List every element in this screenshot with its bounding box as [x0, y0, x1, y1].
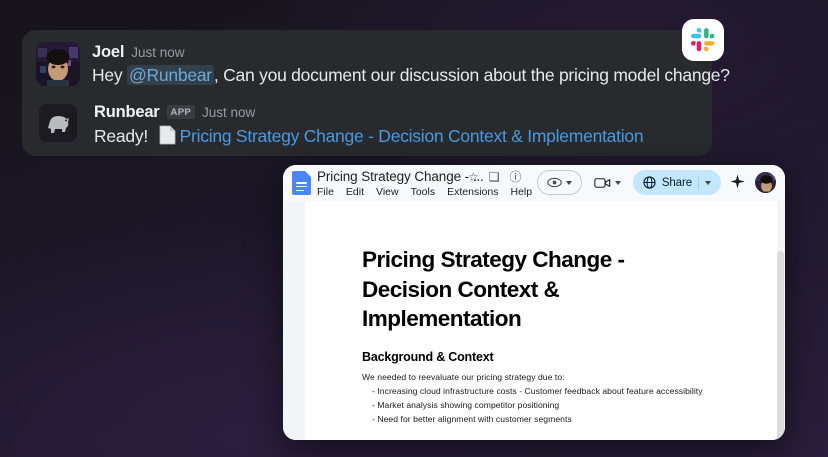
message-timestamp: Just now	[202, 105, 255, 120]
slack-message-runbear: Runbear APP Just now Ready! Pricing Stra…	[36, 102, 643, 150]
user-account-avatar-image	[755, 172, 777, 194]
chevron-down-icon	[566, 181, 572, 185]
joel-message-body: Joel Just now Hey @Runbear, Can you docu…	[92, 42, 730, 86]
message-text-before: Hey	[92, 65, 127, 85]
google-docs-icon-lines	[296, 182, 307, 193]
document-heading: Pricing Strategy Change - Decision Conte…	[362, 245, 712, 334]
document-bullet: - Increasing cloud infrastructure costs …	[362, 385, 747, 399]
menu-bar: File Edit View Tools Extensions Help	[317, 186, 532, 198]
mention-runbear[interactable]: @Runbear	[127, 65, 214, 85]
document-status-icon[interactable]: ⓘ	[510, 171, 522, 183]
user-account-avatar[interactable]	[754, 171, 777, 194]
joel-avatar-image	[36, 42, 80, 86]
toolbar-actions: Share	[537, 170, 777, 195]
app-badge: APP	[167, 105, 195, 119]
runbear-avatar-image	[39, 104, 77, 142]
google-docs-window: Pricing Strategy Change - ... ☆ ❑ ⓘ File…	[283, 165, 785, 440]
menu-item-file[interactable]: File	[317, 186, 334, 198]
menu-item-help[interactable]: Help	[510, 186, 532, 198]
slack-message-joel: Joel Just now Hey @Runbear, Can you docu…	[36, 42, 730, 86]
share-button-label: Share	[662, 177, 692, 189]
chevron-down-icon	[705, 181, 711, 185]
google-docs-toolbar: Pricing Strategy Change - ... ☆ ❑ ⓘ File…	[283, 165, 785, 201]
runbear-message-header: Runbear APP Just now	[94, 102, 643, 122]
document-page[interactable]: Pricing Strategy Change - Decision Conte…	[305, 201, 777, 440]
globe-icon	[643, 176, 656, 189]
menu-item-extensions[interactable]: Extensions	[447, 186, 498, 198]
document-file-icon	[159, 125, 176, 150]
gemini-sparkle-glyph	[730, 174, 745, 189]
eye-icon	[547, 177, 562, 188]
share-button[interactable]: Share	[633, 170, 721, 195]
menu-item-edit[interactable]: Edit	[346, 186, 364, 198]
document-link[interactable]: Pricing Strategy Change - Decision Conte…	[180, 126, 644, 146]
sparkle-icon[interactable]	[730, 174, 745, 191]
meet-button[interactable]	[591, 170, 624, 195]
message-text-after: , Can you document our discussion about …	[214, 65, 730, 85]
message-text-before: Ready!	[94, 126, 153, 146]
menu-item-tools[interactable]: Tools	[411, 186, 436, 198]
menu-item-view[interactable]: View	[376, 186, 399, 198]
runbear-avatar[interactable]	[39, 104, 77, 142]
slack-logo[interactable]	[682, 19, 724, 61]
move-to-folder-icon[interactable]: ❑	[489, 171, 500, 183]
message-author-name[interactable]: Runbear	[94, 103, 160, 122]
video-camera-icon	[594, 177, 611, 189]
document-bullet: - Need for better alignment with custome…	[362, 413, 747, 427]
message-timestamp: Just now	[131, 45, 184, 60]
chevron-down-icon	[615, 181, 621, 185]
document-section-heading-background: Background & Context	[362, 350, 747, 364]
share-divider	[698, 175, 699, 190]
screenshot-root: Joel Just now Hey @Runbear, Can you docu…	[0, 0, 828, 457]
document-intro-paragraph: We needed to reevaluate our pricing stra…	[362, 371, 747, 385]
title-action-icons: ☆ ❑ ⓘ	[468, 171, 522, 183]
message-author-name[interactable]: Joel	[92, 43, 124, 62]
runbear-message-body: Runbear APP Just now Ready! Pricing Stra…	[94, 102, 643, 150]
google-docs-icon	[292, 171, 311, 195]
document-scrollbar-thumb[interactable]	[777, 251, 784, 440]
document-bullet: - Market analysis showing competitor pos…	[362, 399, 747, 413]
slack-message-card: Joel Just now Hey @Runbear, Can you docu…	[22, 30, 712, 156]
document-scrollbar[interactable]	[777, 237, 784, 440]
slack-logo-icon	[690, 27, 716, 53]
document-canvas: Pricing Strategy Change - Decision Conte…	[283, 201, 785, 440]
view-mode-button[interactable]	[537, 170, 582, 195]
document-content: Pricing Strategy Change - Decision Conte…	[305, 201, 777, 440]
star-icon[interactable]: ☆	[468, 171, 479, 183]
joel-message-text: Hey @Runbear, Can you document our discu…	[92, 65, 730, 86]
runbear-message-text: Ready! Pricing Strategy Change - Decisio…	[94, 125, 643, 150]
document-title[interactable]: Pricing Strategy Change - ...	[317, 169, 484, 184]
joel-avatar[interactable]	[36, 42, 80, 86]
joel-message-header: Joel Just now	[92, 42, 730, 62]
